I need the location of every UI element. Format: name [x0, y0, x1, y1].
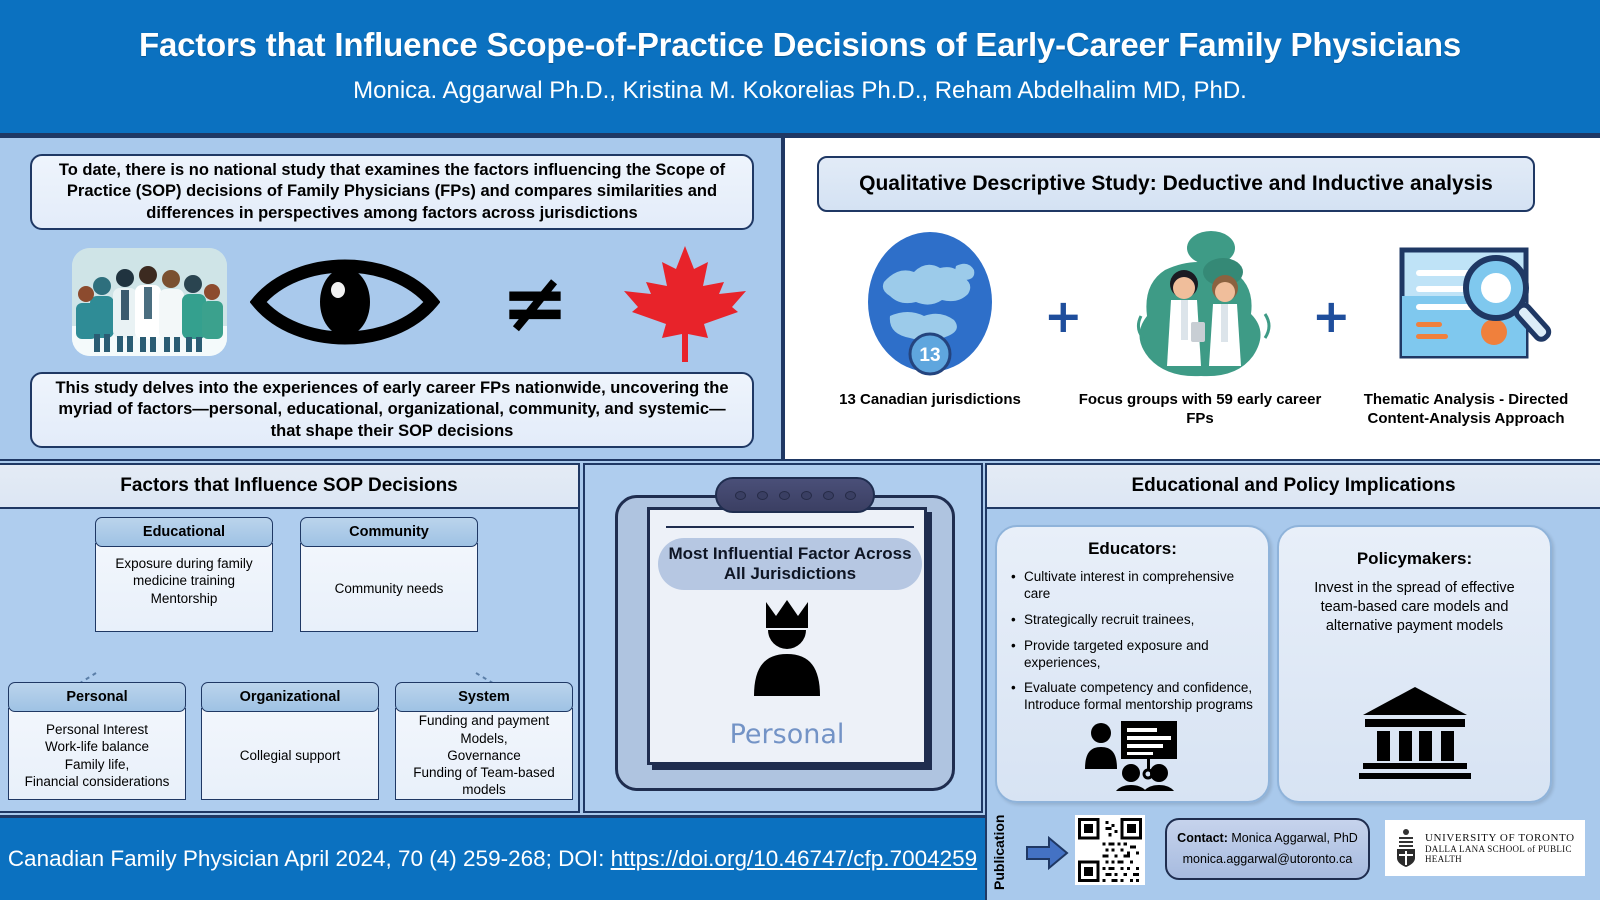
- educators-title: Educators:: [997, 539, 1268, 559]
- uoft-logo: UNIVERSITY OF TORONTO DALLA LANA SCHOOL …: [1385, 820, 1585, 876]
- document-magnifier-icon: [1341, 230, 1591, 385]
- government-building-icon: [1279, 685, 1550, 779]
- most-influential-banner: Most Influential Factor Across All Juris…: [658, 538, 922, 590]
- personal-label: Personal: [650, 719, 924, 750]
- page-title: Factors that Influence Scope-of-Practice…: [139, 28, 1461, 63]
- clip-hole: [801, 491, 812, 500]
- intro-icon-row: ≠: [30, 238, 754, 368]
- clipboard-graphic: Most Influential Factor Across All Juris…: [607, 477, 963, 795]
- method-caption-analysis: Thematic Analysis - Directed Content-Ana…: [1341, 391, 1591, 429]
- factor-box-community: Community Community needs: [300, 517, 478, 632]
- poster-header: Factors that Influence Scope-of-Practice…: [0, 0, 1600, 133]
- factors-section-title: Factors that Influence SOP Decisions: [0, 465, 578, 509]
- intro-top-callout: To date, there is no national study that…: [30, 154, 754, 230]
- canada-globe-icon: 13: [805, 230, 1055, 385]
- publication-strip: Publication: [985, 800, 1600, 900]
- focus-group-physicians-icon: [1075, 230, 1325, 385]
- factor-box-system: System Funding and payment Models,Govern…: [395, 682, 573, 800]
- contact-box: Contact: Monica Aggarwal, PhD monica.agg…: [1165, 818, 1370, 880]
- policymakers-title: Policymakers:: [1279, 549, 1550, 569]
- educators-bullet-list: Cultivate interest in comprehensive care…: [997, 569, 1268, 714]
- intro-bottom-callout: This study delves into the experiences o…: [30, 372, 754, 448]
- method-column-jurisdictions: 13 13 Canadian jurisdictions: [805, 230, 1055, 410]
- uoft-crest-icon: [1393, 828, 1419, 868]
- methods-panel: Qualitative Descriptive Study: Deductive…: [783, 136, 1600, 461]
- uoft-line-2: DALLA LANA SCHOOL of PUBLIC HEALTH: [1425, 844, 1585, 864]
- doi-link[interactable]: https://doi.org/10.46747/cfp.7004259: [611, 846, 978, 871]
- crowned-person-icon: [744, 598, 830, 698]
- clip-hole: [823, 491, 834, 500]
- contact-name-line: Contact: Monica Aggarwal, PhD: [1177, 828, 1358, 849]
- poster-root: Factors that Influence Scope-of-Practice…: [0, 0, 1600, 900]
- clip-hole: [845, 491, 856, 500]
- factor-box-personal: Personal Personal InterestWork-life bala…: [8, 682, 186, 800]
- factors-panel: Factors that Influence SOP Decisions Edu…: [0, 463, 580, 813]
- contact-email[interactable]: monica.aggarwal@utoronto.ca: [1183, 849, 1353, 870]
- method-caption-jurisdictions: 13 Canadian jurisdictions: [805, 391, 1055, 410]
- factor-title-personal: Personal: [8, 682, 186, 712]
- list-item: Evaluate competency and confidence, Intr…: [1011, 680, 1258, 714]
- factor-title-system: System: [395, 682, 573, 712]
- method-column-focus-groups: Focus groups with 59 early career FPs: [1075, 230, 1325, 429]
- method-caption-focus-groups: Focus groups with 59 early career FPs: [1075, 391, 1325, 429]
- methods-title: Qualitative Descriptive Study: Deductive…: [817, 156, 1535, 212]
- author-list: Monica. Aggarwal Ph.D., Kristina M. Koko…: [353, 77, 1247, 105]
- eye-icon: [250, 250, 440, 355]
- factor-title-community: Community: [300, 517, 478, 547]
- implications-section-title: Educational and Policy Implications: [987, 465, 1600, 509]
- clipboard-clip: [715, 477, 875, 513]
- canada-maple-leaf-icon: [620, 242, 750, 364]
- factor-body-system: Funding and payment Models,GovernanceFun…: [395, 708, 573, 800]
- personal-panel: Most Influential Factor Across All Juris…: [583, 463, 983, 813]
- method-column-analysis: Thematic Analysis - Directed Content-Ana…: [1341, 230, 1591, 429]
- uoft-line-1: UNIVERSITY OF TORONTO: [1425, 832, 1585, 844]
- factor-body-community: Community needs: [300, 543, 478, 632]
- arrow-right-icon: [1025, 836, 1069, 870]
- contact-name: Monica Aggarwal, PhD: [1228, 831, 1358, 845]
- citation-footer: Canadian Family Physician April 2024, 70…: [0, 815, 985, 900]
- medical-team-photo: [72, 248, 227, 356]
- factor-body-organizational: Collegial support: [201, 708, 379, 800]
- contact-label: Contact:: [1177, 831, 1228, 845]
- uoft-wordmark: UNIVERSITY OF TORONTO DALLA LANA SCHOOL …: [1425, 832, 1585, 864]
- factor-body-personal: Personal InterestWork-life balanceFamily…: [8, 708, 186, 800]
- factor-box-organizational: Organizational Collegial support: [201, 682, 379, 800]
- clipboard-paper: Most Influential Factor Across All Juris…: [647, 507, 927, 765]
- clip-hole: [779, 491, 790, 500]
- educators-card: Educators: Cultivate interest in compreh…: [995, 525, 1270, 803]
- factor-box-educational: Educational Exposure during family medic…: [95, 517, 273, 632]
- paper-rule-line: [666, 526, 914, 528]
- factor-body-educational: Exposure during family medicine training…: [95, 543, 273, 632]
- policymakers-card: Policymakers: Invest in the spread of ef…: [1277, 525, 1552, 803]
- list-item: Provide targeted exposure and experience…: [1011, 638, 1258, 672]
- svg-text:13: 13: [919, 345, 940, 366]
- list-item: Strategically recruit trainees,: [1011, 612, 1258, 629]
- factor-title-organizational: Organizational: [201, 682, 379, 712]
- publication-label: Publication: [991, 810, 1007, 890]
- factor-title-educational: Educational: [95, 517, 273, 547]
- not-equal-icon: ≠: [480, 256, 590, 351]
- citation-text: Canadian Family Physician April 2024, 70…: [8, 846, 977, 872]
- list-item: Cultivate interest in comprehensive care: [1011, 569, 1258, 603]
- policymakers-text: Invest in the spread of effective team-b…: [1279, 569, 1550, 636]
- clip-hole: [757, 491, 768, 500]
- qr-code-icon[interactable]: [1075, 815, 1145, 885]
- clip-hole: [735, 491, 746, 500]
- intro-panel: To date, there is no national study that…: [0, 136, 783, 461]
- presentation-teaching-icon: [997, 719, 1268, 791]
- citation-prefix: Canadian Family Physician April 2024, 70…: [8, 846, 611, 871]
